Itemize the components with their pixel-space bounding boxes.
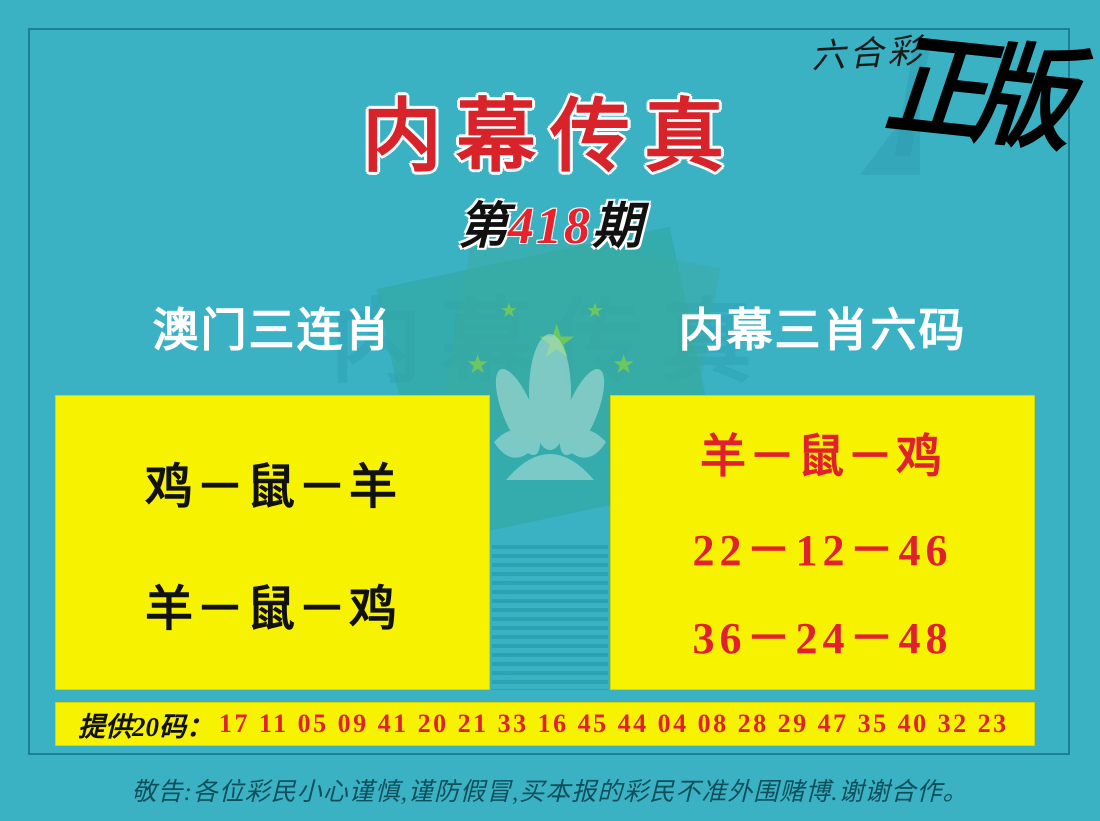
star-icon: ★ [536, 318, 577, 364]
lottery-poster: 内幕传真 ★ ★ ★ ★ ★ 六合彩 正版 内幕传真 第418期 澳门三连肖 [0, 0, 1100, 821]
disclaimer-text: 敬告:各位彩民小心谨慎,谨防假冒,买本报的彩民不准外围赌博.谢谢合作。 [0, 772, 1100, 808]
column-right: 内幕三肖六码 [610, 305, 1035, 377]
page-title: 内幕传真 [0, 72, 1100, 188]
pick-number-line: 36－24－48 [693, 602, 953, 666]
lotus-icon [490, 330, 610, 510]
column-left-heading: 澳门三连肖 [55, 305, 490, 377]
star-icon: ★ [586, 300, 604, 320]
panel-right-picks: 羊－鼠－鸡 22－12－46 36－24－48 [610, 395, 1035, 690]
codes-label: 提供20码： [78, 705, 213, 744]
column-right-heading: 内幕三肖六码 [610, 305, 1035, 377]
issue-number: 418 [508, 198, 592, 255]
pick-line: 羊－鼠－鸡 [145, 569, 400, 639]
water-lines-decor [492, 545, 608, 690]
issue-number-line: 第418期 [0, 186, 1100, 258]
panel-left-picks: 鸡－鼠－羊 羊－鼠－鸡 [55, 395, 490, 690]
pick-zodiac-line: 羊－鼠－鸡 [700, 420, 945, 486]
codes-values: 17 11 05 09 41 20 21 33 16 45 44 04 08 2… [219, 709, 1009, 739]
column-left: 澳门三连肖 [55, 305, 490, 377]
pick-line: 鸡－鼠－羊 [145, 447, 400, 517]
codes-bar: 提供20码： 17 11 05 09 41 20 21 33 16 45 44 … [55, 702, 1035, 746]
issue-prefix: 第 [458, 198, 508, 254]
star-icon: ★ [500, 300, 518, 320]
pick-number-line: 22－12－46 [693, 514, 953, 578]
issue-suffix: 期 [592, 198, 642, 254]
